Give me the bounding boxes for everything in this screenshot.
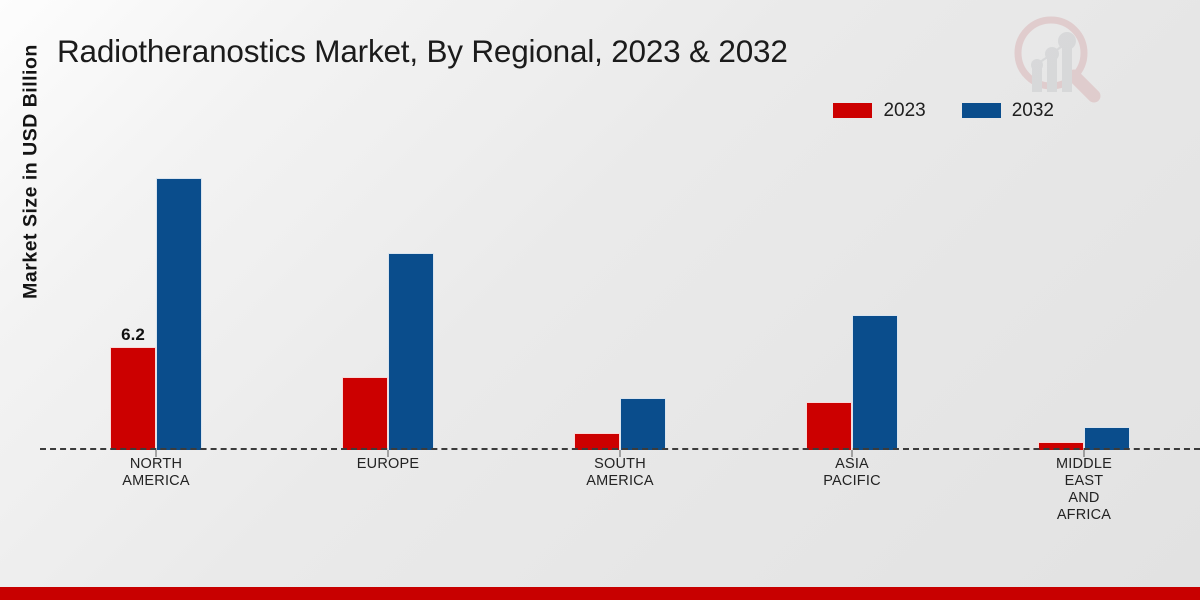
category-label: ASIAPACIFIC [736,456,968,524]
bar-2023[interactable] [342,377,388,450]
magnifier-bar-chart-logo-icon [1004,8,1108,112]
bar-group [968,150,1200,450]
x-axis-category-labels: NORTHAMERICAEUROPESOUTHAMERICAASIAPACIFI… [40,456,1200,524]
category-label-line: SOUTH [504,456,736,473]
x-axis-baseline [40,448,1200,450]
category-label-line: MIDDLE [968,456,1200,473]
category-label-line: NORTH [40,456,272,473]
legend-item-2023[interactable]: 2023 [833,101,925,120]
plot-area: 6.2 [40,150,1200,450]
bar-pair [574,150,666,450]
category-label-line: PACIFIC [736,473,968,490]
bar-pair [342,150,434,450]
bottom-accent-band [0,587,1200,600]
bar-pair [806,150,898,450]
bar-group [272,150,504,450]
bar-2032[interactable] [388,253,434,450]
category-label-line: AFRICA [968,507,1200,524]
legend-item-2032[interactable]: 2032 [962,101,1054,120]
category-label-line: AMERICA [504,473,736,490]
category-label-line: ASIA [736,456,968,473]
bar-groups: 6.2 [40,150,1200,450]
category-label: NORTHAMERICA [40,456,272,524]
bar-2032[interactable] [1084,427,1130,450]
category-label-line: EAST [968,473,1200,490]
bar-pair: 6.2 [110,150,202,450]
category-label: EUROPE [272,456,504,524]
category-label: SOUTHAMERICA [504,456,736,524]
chart-legend: 2023 2032 [833,101,1054,120]
legend-swatch-2023 [833,103,872,118]
category-label-line: AMERICA [40,473,272,490]
bar-2032[interactable] [620,398,666,450]
bar-group: 6.2 [40,150,272,450]
bar-group [736,150,968,450]
chart-infographic: Radiotheranostics Market, By Regional, 2… [0,0,1200,600]
bar-pair [1038,150,1130,450]
bar-2032[interactable] [156,178,202,450]
category-label-line: AND [968,490,1200,507]
legend-label-2032: 2032 [1012,101,1054,120]
bar-group [504,150,736,450]
bar-value-label: 6.2 [121,325,145,345]
bar-2023[interactable]: 6.2 [110,347,156,450]
legend-swatch-2032 [962,103,1001,118]
category-label: MIDDLEEASTANDAFRICA [968,456,1200,524]
bar-2032[interactable] [852,315,898,450]
page-title: Radiotheranostics Market, By Regional, 2… [57,33,788,70]
category-label-line: EUROPE [272,456,504,473]
legend-label-2023: 2023 [883,101,925,120]
bar-2023[interactable] [806,402,852,450]
